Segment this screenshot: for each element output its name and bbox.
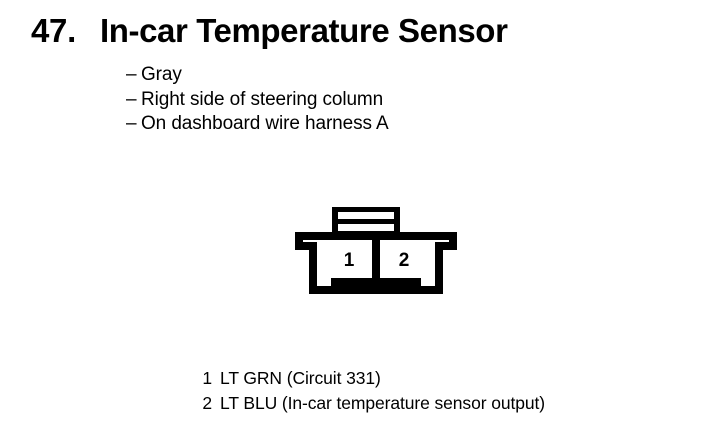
legend-pin-description: LT GRN (Circuit 331) xyxy=(220,366,381,391)
description-item-label: On dashboard wire harness A xyxy=(141,113,389,134)
cavity-number-1: 1 xyxy=(344,250,355,271)
page-heading: 47.In-car Temperature Sensor xyxy=(31,11,671,53)
legend-row: 2LT BLU (In-car temperature sensor outpu… xyxy=(0,391,704,416)
legend-pin-number: 2 xyxy=(196,391,212,416)
description-item: –Gray xyxy=(126,63,646,88)
dash-bullet-icon: – xyxy=(126,88,141,113)
legend-pin-number: 1 xyxy=(196,366,212,391)
connector-symbol-svg: 1 2 xyxy=(287,200,467,320)
dash-bullet-icon: – xyxy=(126,112,141,137)
description-item: –On dashboard wire harness A xyxy=(126,112,646,137)
connector-body-outline xyxy=(295,232,457,294)
legend-pin-description: LT BLU (In-car temperature sensor output… xyxy=(220,391,545,416)
cavity-number-2: 2 xyxy=(399,250,410,271)
page-title: In-car Temperature Sensor xyxy=(100,11,508,51)
description-list: –Gray –Right side of steering column –On… xyxy=(126,63,646,137)
description-item: –Right side of steering column xyxy=(126,88,646,113)
pin-legend: 1LT GRN (Circuit 331) 2LT BLU (In-car te… xyxy=(0,366,704,416)
description-item-label: Right side of steering column xyxy=(141,89,383,110)
connector-diagram: 1 2 xyxy=(287,200,467,320)
legend-row: 1LT GRN (Circuit 331) xyxy=(0,366,704,391)
dash-bullet-icon: – xyxy=(126,63,141,88)
heading-item-number: 47. xyxy=(31,11,76,51)
description-item-label: Gray xyxy=(141,64,182,85)
